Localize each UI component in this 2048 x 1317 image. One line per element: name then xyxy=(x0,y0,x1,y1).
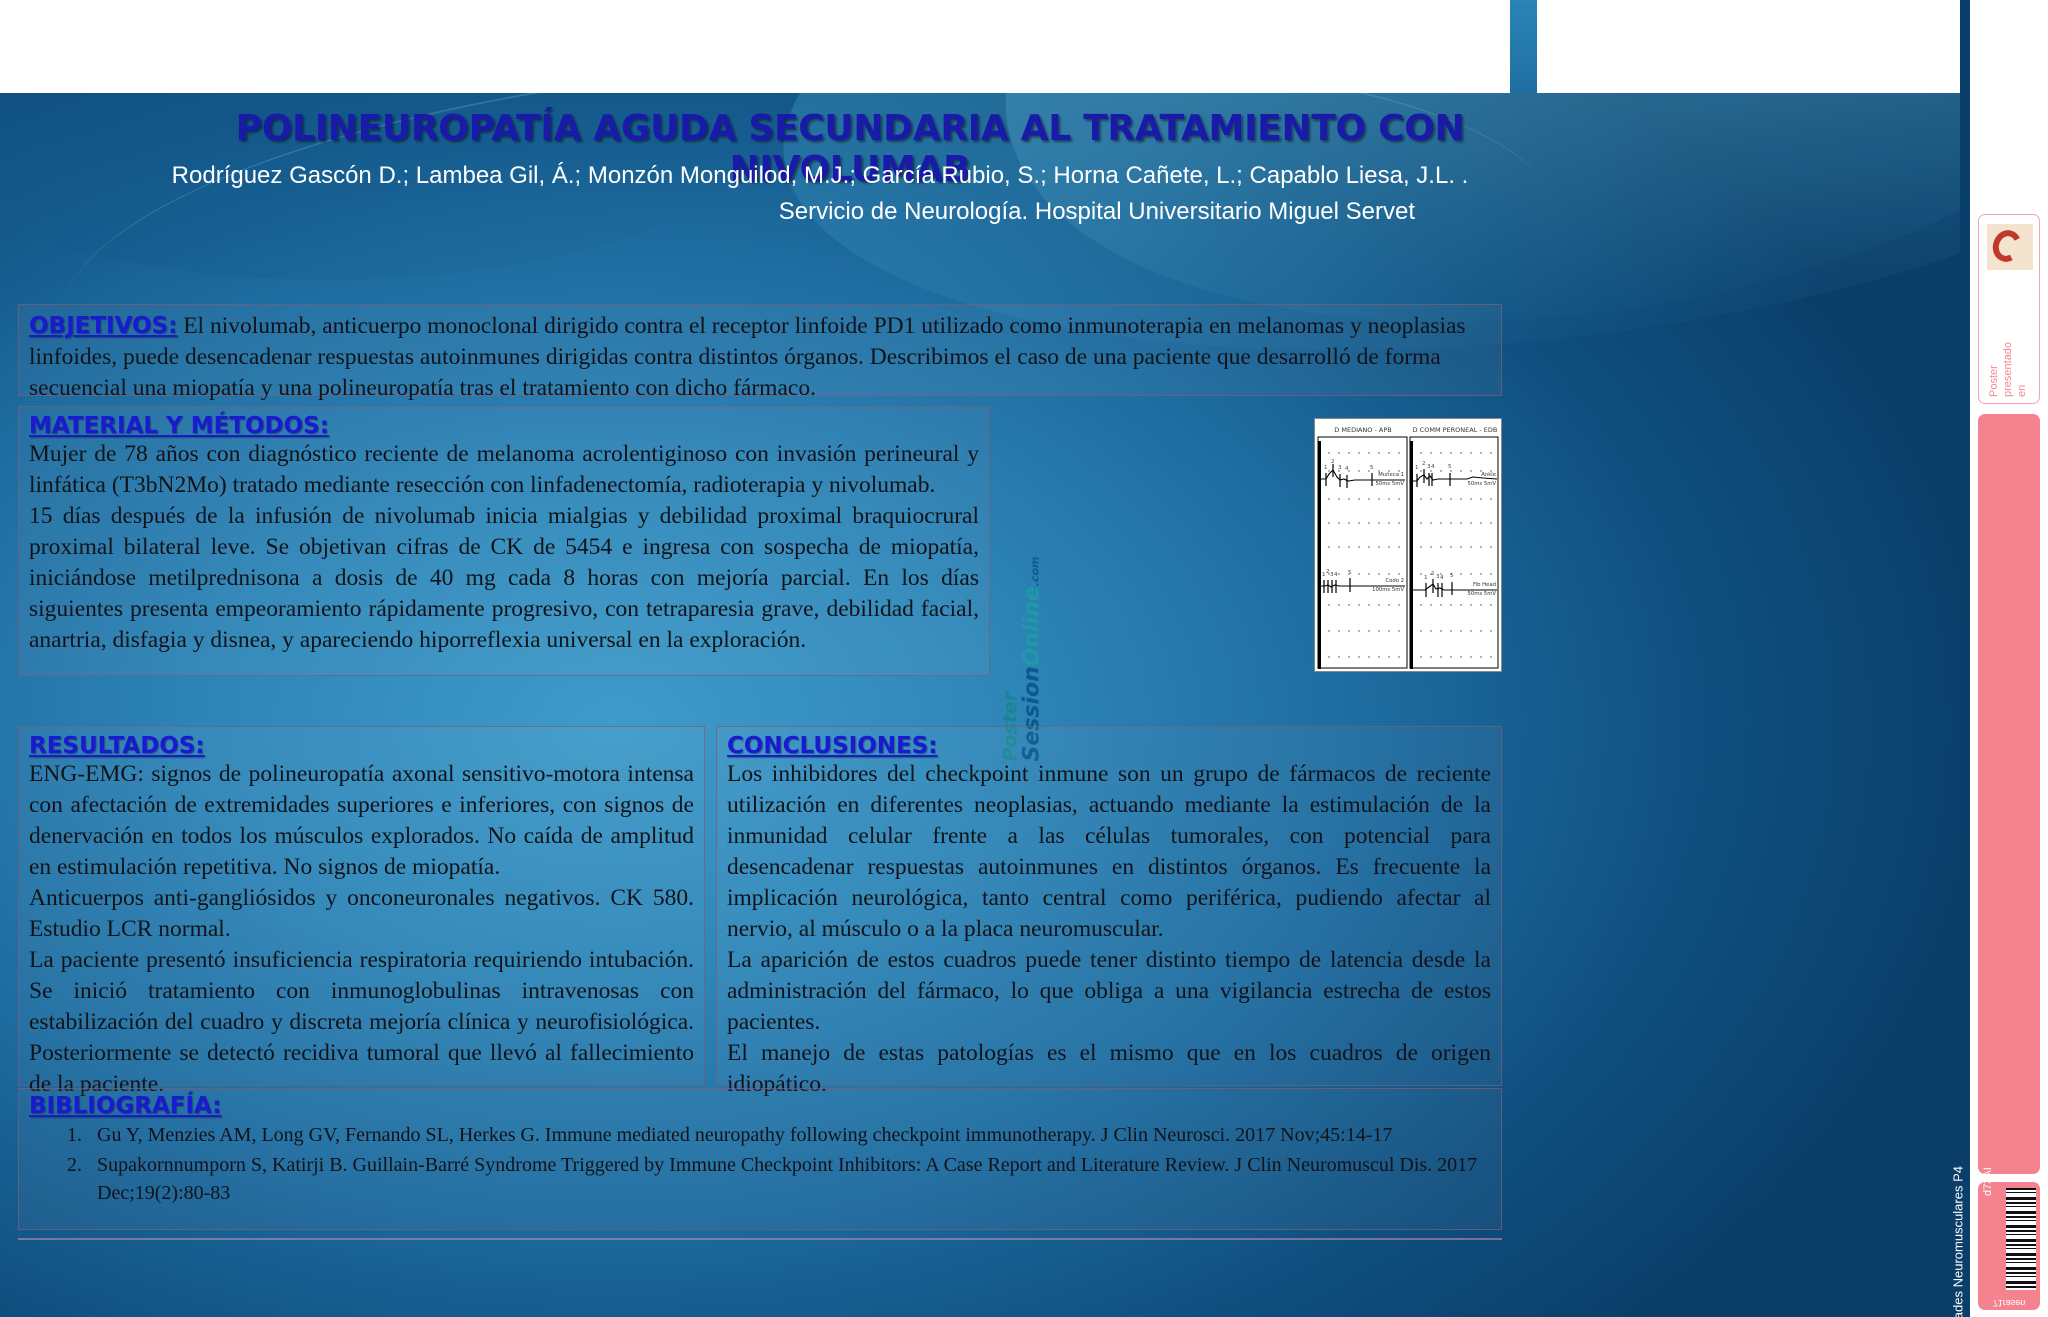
conclusiones-body: Los inhibidores del checkpoint inmune so… xyxy=(727,759,1491,1100)
presented-at-label: Poster presentado en xyxy=(1987,267,2029,397)
svg-text:1: 1 xyxy=(1415,465,1419,471)
svg-text:4: 4 xyxy=(1345,466,1349,472)
objetivos-heading: OBJETIVOS: xyxy=(29,313,177,339)
svg-text:1: 1 xyxy=(1322,572,1326,578)
section-conclusiones: CONCLUSIONES: Los inhibidores del checkp… xyxy=(716,726,1502,1086)
svg-text:5: 5 xyxy=(1348,570,1352,576)
barcode-card: d73AI 71rasen xyxy=(1978,1182,2040,1310)
svg-text:2: 2 xyxy=(1331,459,1335,465)
presented-at-card: Poster presentado en xyxy=(1978,214,2040,404)
pso-com: .com xyxy=(1029,556,1042,586)
poster-code: d73AI xyxy=(1982,1106,1994,1196)
emblem-ring xyxy=(1989,226,2026,265)
svg-text:3: 3 xyxy=(1338,465,1342,471)
section-objetivos: OBJETIVOS: El nivolumab, anticuerpo mono… xyxy=(18,304,1502,396)
objetivos-body: El nivolumab, anticuerpo monoclonal diri… xyxy=(29,313,1466,401)
resultados-heading: RESULTADOS: xyxy=(29,733,205,759)
bibliografia-heading: BIBLIOGRAFÍA: xyxy=(29,1093,221,1119)
sidebar-blue-edge xyxy=(1960,0,1970,1317)
svg-text:5: 5 xyxy=(1370,465,1374,471)
bottom-divider xyxy=(18,1238,1502,1240)
svg-text:2: 2 xyxy=(1431,571,1435,577)
svg-text:Muñeca 1: Muñeca 1 xyxy=(1378,472,1404,478)
svg-text:1: 1 xyxy=(1424,575,1428,581)
svg-text:2: 2 xyxy=(1422,461,1426,467)
svg-text:5: 5 xyxy=(1448,464,1452,470)
footer-code: 71rasen xyxy=(1980,1298,2038,1308)
material-heading: MATERIAL Y MÉTODOS: xyxy=(29,413,329,439)
bibliografia-item: Supakornnumporn S, Katirji B. Guillain-B… xyxy=(87,1151,1491,1207)
section-resultados: RESULTADOS: ENG-EMG: signos de polineuro… xyxy=(18,726,705,1086)
affiliation: Servicio de Neurología. Hospital Univers… xyxy=(120,198,1520,226)
svg-text:2: 2 xyxy=(1326,569,1330,575)
svg-text:D COMM PERONEAL - EDB: D COMM PERONEAL - EDB xyxy=(1413,426,1498,434)
bibliografia-list: Gu Y, Menzies AM, Long GV, Fernando SL, … xyxy=(87,1121,1491,1207)
svg-text:50ms 5mV: 50ms 5mV xyxy=(1376,481,1405,487)
poster-canvas: salud servicio aragonés de salud Hospita… xyxy=(0,0,2048,1317)
emg-chart-svg: D MEDIANO - APB D COMM PERONEAL - EDB xyxy=(1315,419,1501,671)
svg-text:4: 4 xyxy=(1431,464,1435,470)
header-logo-bar-left xyxy=(0,0,1510,93)
barcode-icon xyxy=(2006,1188,2036,1290)
section-bibliografia: BIBLIOGRAFÍA: Gu Y, Menzies AM, Long GV,… xyxy=(18,1088,1502,1230)
header-logo-bar-right xyxy=(1537,0,1970,93)
svg-text:5: 5 xyxy=(1450,573,1454,579)
category-author-card: Enfermedades Neuromusculares P4 Diego Ro… xyxy=(1978,414,2040,1174)
svg-text:Fib Head: Fib Head xyxy=(1473,582,1496,588)
section-material-metodos: MATERIAL Y MÉTODOS: Mujer de 78 años con… xyxy=(18,406,990,676)
emg-eng-figure: D MEDIANO - APB D COMM PERONEAL - EDB xyxy=(1314,418,1502,672)
material-body: Mujer de 78 años con diagnóstico recient… xyxy=(29,439,979,656)
svg-text:4: 4 xyxy=(1440,575,1444,581)
bibliografia-item: Gu Y, Menzies AM, Long GV, Fernando SL, … xyxy=(87,1121,1491,1149)
author-list: Rodríguez Gascón D.; Lambea Gil, Á.; Mon… xyxy=(120,162,1520,190)
svg-text:1: 1 xyxy=(1324,465,1328,471)
resultados-body: ENG-EMG: signos de polineuropatía axonal… xyxy=(29,759,694,1100)
conclusiones-heading: CONCLUSIONES: xyxy=(727,733,937,759)
svg-text:Ankle: Ankle xyxy=(1481,472,1496,478)
svg-text:50ms 5mV: 50ms 5mV xyxy=(1468,481,1497,487)
svg-text:4: 4 xyxy=(1334,572,1338,578)
svg-text:D MEDIANO - APB: D MEDIANO - APB xyxy=(1334,426,1391,434)
svg-text:50ms 5mV: 50ms 5mV xyxy=(1468,591,1497,597)
congress-emblem-icon xyxy=(1987,224,2033,270)
category-label: Enfermedades Neuromusculares P4 xyxy=(1948,1166,1970,1317)
svg-text:Codo 2: Codo 2 xyxy=(1385,578,1404,584)
svg-text:100ms 5mV: 100ms 5mV xyxy=(1372,587,1404,593)
pso-online: Online xyxy=(1020,586,1045,666)
header-bar-notch xyxy=(1510,0,1537,93)
